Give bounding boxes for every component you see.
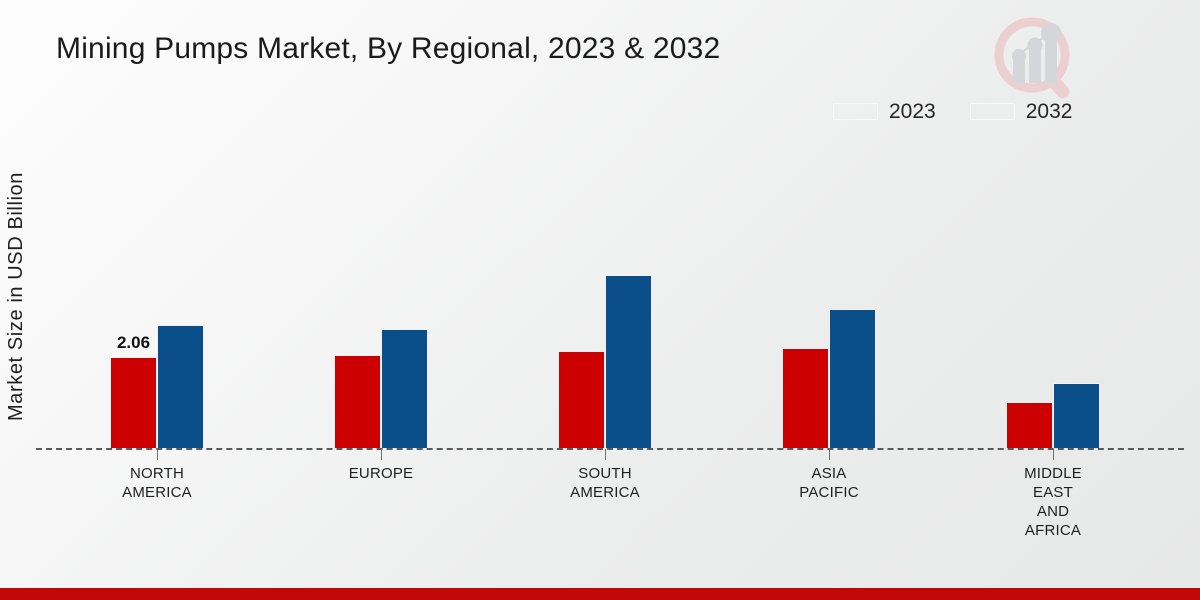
bar-2032-north-america[interactable] (157, 325, 204, 448)
x-axis-tick-middle-east-and-africa (1053, 449, 1054, 460)
y-axis-title: Market Size in USD Billion (0, 131, 32, 461)
x-axis-tick-asia-pacific (829, 449, 830, 460)
chart-title: Mining Pumps Market, By Regional, 2023 &… (56, 32, 720, 66)
legend-swatch-2023 (833, 103, 878, 120)
bar-2032-south-america[interactable] (605, 275, 652, 448)
watermark-logo-icon (982, 12, 1092, 108)
bar-2032-middle-east-and-africa[interactable] (1053, 383, 1100, 448)
legend-label-2023: 2023 (889, 101, 936, 122)
x-axis-tick-europe (381, 449, 382, 460)
x-axis-tick-north-america (157, 449, 158, 460)
legend-item-2032[interactable]: 2032 (970, 101, 1073, 122)
x-axis-tick-south-america (605, 449, 606, 460)
x-axis-baseline (36, 448, 1184, 450)
x-axis-label-north-america: NORTH AMERICA (82, 464, 232, 502)
bar-2023-asia-pacific[interactable] (782, 348, 829, 448)
x-axis-label-europe: EUROPE (306, 464, 456, 483)
bar-2023-north-america[interactable] (110, 357, 157, 448)
legend-swatch-2032 (970, 103, 1015, 120)
legend-item-2023[interactable]: 2023 (833, 101, 936, 122)
bar-2023-middle-east-and-africa[interactable] (1006, 402, 1053, 448)
bar-2023-south-america[interactable] (558, 351, 605, 448)
bar-2023-europe[interactable] (334, 355, 381, 448)
footer-accent-bar (0, 588, 1200, 600)
x-axis-label-middle-east-and-africa: MIDDLE EAST AND AFRICA (978, 464, 1128, 540)
legend-label-2032: 2032 (1026, 101, 1073, 122)
plot-area: 2.06 NORTH AMERICA EUROPE SOUTH AMERICA (36, 130, 1184, 450)
chart-legend: 2023 2032 (833, 101, 1072, 122)
y-axis-title-text: Market Size in USD Billion (5, 171, 28, 420)
chart-figure: Mining Pumps Market, By Regional, 2023 &… (0, 0, 1200, 600)
bar-2032-europe[interactable] (381, 329, 428, 448)
bar-value-label-north-america-2023: 2.06 (110, 333, 157, 353)
bar-2032-asia-pacific[interactable] (829, 309, 876, 448)
x-axis-label-asia-pacific: ASIA PACIFIC (754, 464, 904, 502)
x-axis-label-south-america: SOUTH AMERICA (530, 464, 680, 502)
